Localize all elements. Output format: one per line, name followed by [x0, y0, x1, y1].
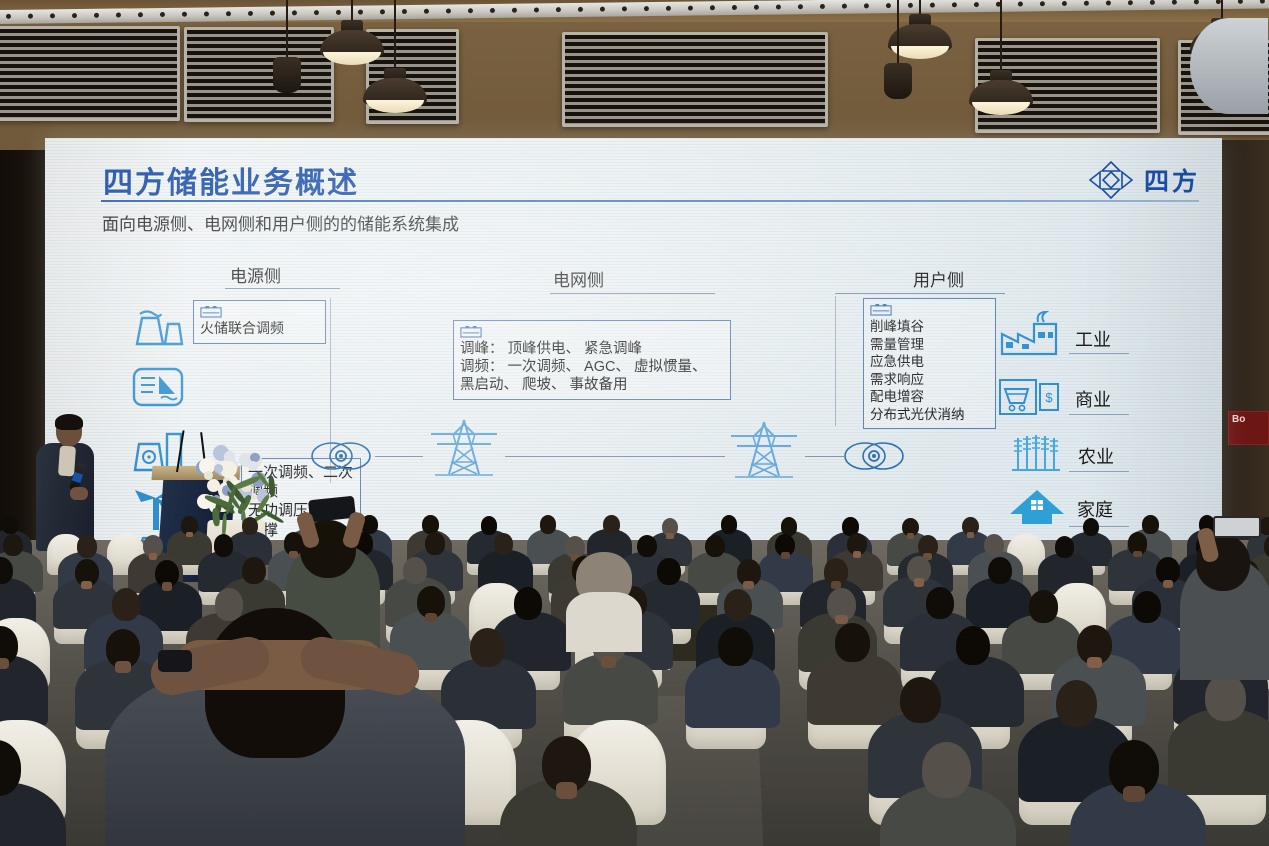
- audience-head: [705, 535, 725, 557]
- audience-head: [1055, 536, 1075, 558]
- audience-head: [1056, 680, 1097, 727]
- audience-head: [403, 557, 427, 584]
- audience-head: [1083, 518, 1100, 537]
- audience-head: [984, 534, 1004, 556]
- column-header-user: 用户侧: [913, 266, 964, 291]
- audience-head: [481, 516, 498, 535]
- slide-title: 四方储能业务概述: [103, 158, 359, 202]
- column-rule: [550, 293, 715, 294]
- audience-neck: [914, 578, 925, 586]
- info-box-user-line: 需求响应: [870, 371, 989, 389]
- info-box-grid-line1: 调峰： 顶峰供电、 紧急调峰: [460, 340, 724, 358]
- audience-head: [835, 623, 870, 662]
- audience-neck: [81, 581, 92, 589]
- info-box-user-line: 配电增容: [870, 388, 989, 406]
- user-category-label-commerce: 商业: [1075, 386, 1111, 412]
- user-category-label-agriculture: 农业: [1078, 443, 1114, 469]
- audience-head: [1142, 515, 1159, 534]
- transmission-tower-icon: [423, 418, 505, 485]
- audience-shoulders: [1168, 709, 1269, 795]
- svg-text:$: $: [1045, 390, 1053, 405]
- info-box-user-line: 需量管理: [870, 336, 989, 354]
- audience-neck: [556, 782, 578, 799]
- column-header-grid: 电网侧: [553, 266, 604, 291]
- connector-line: [805, 456, 845, 457]
- audience-neck: [907, 533, 914, 539]
- diamond-arrows-logo-icon: [1088, 160, 1134, 200]
- column-rule: [225, 288, 340, 289]
- audience-head: [900, 677, 941, 724]
- battery-icon: [200, 305, 222, 318]
- slide-subtitle: 面向电源侧、电网侧和用户侧的的储能系统集成: [102, 210, 459, 235]
- audience-head: [1205, 674, 1246, 721]
- vent-panel: [184, 27, 334, 122]
- brand-logo: 四方: [1088, 160, 1200, 200]
- audience-head: [112, 588, 141, 620]
- audience-head: [215, 588, 244, 620]
- user-category-label-industry: 工业: [1075, 326, 1111, 352]
- vent-panel: [0, 26, 180, 121]
- audience-head: [724, 589, 753, 621]
- flower-arrangement: [196, 443, 274, 533]
- audience-head: [494, 533, 514, 555]
- battery-icon: [460, 325, 482, 338]
- info-box-user-line: 应急供电: [870, 353, 989, 371]
- audience-head: [657, 558, 681, 585]
- audience-neck: [666, 533, 673, 539]
- audience-neck: [162, 582, 173, 590]
- audience-neck: [0, 658, 9, 670]
- presenter-hair: [55, 414, 83, 430]
- title-underline: [101, 200, 1199, 202]
- info-box-grid-line2: 调频： 一次调频、 AGC、 虚拟惯量、: [460, 358, 724, 376]
- category-rule: [1069, 414, 1129, 415]
- audience-neck: [853, 551, 862, 558]
- shopping-cart-money-icon: $: [998, 376, 1060, 423]
- category-rule: [1069, 353, 1129, 354]
- audience-neck: [1163, 580, 1174, 588]
- audience-neck: [1133, 551, 1142, 558]
- presenter-hand: [70, 487, 88, 500]
- brand-name: 四方: [1144, 162, 1200, 198]
- column-header-generation: 电源侧: [230, 262, 281, 287]
- divider: [835, 296, 836, 426]
- transmission-tower-icon: [723, 420, 805, 487]
- audience-neck: [186, 532, 193, 538]
- audience-neck: [967, 532, 974, 538]
- conference-scene: Bo 四方储能业务概述 面向电源侧、电网侧和用户侧的的储能系统集成 四方 电源侧…: [0, 0, 1269, 846]
- exit-sign: Bo: [1228, 411, 1269, 445]
- audience-shoulders: [441, 658, 536, 730]
- audience-head: [425, 532, 445, 554]
- info-box-user-line: 分布式光伏消纳: [870, 406, 989, 424]
- audience-neck: [149, 553, 158, 560]
- audience-head: [470, 628, 505, 667]
- audience-head: [922, 742, 972, 798]
- audience-neck: [781, 552, 790, 559]
- audience-neck: [425, 613, 438, 623]
- wheat-icon: [1010, 432, 1062, 479]
- house-icon: [1008, 486, 1066, 531]
- transformer-icon: [841, 436, 907, 481]
- audience-neck: [1087, 657, 1102, 669]
- light-hair-shoulders: [566, 592, 642, 652]
- hero-watch: [158, 650, 192, 672]
- audience-neck: [743, 581, 754, 589]
- audience-head: [956, 626, 991, 665]
- info-box-user-line: 削峰填谷: [870, 318, 989, 336]
- battery-icon: [870, 303, 892, 316]
- category-rule: [1069, 471, 1129, 472]
- audience-head: [926, 587, 955, 619]
- audience-head: [988, 557, 1012, 584]
- phone-device: [1213, 516, 1261, 538]
- audience-head: [721, 515, 738, 534]
- audience-head: [242, 517, 259, 536]
- audience-shoulders: [807, 653, 902, 725]
- info-box-grid-line3: 黑启动、 爬坡、 事故备用: [460, 376, 724, 394]
- column-rule: [835, 293, 1005, 294]
- audience-head: [77, 535, 97, 557]
- audience-neck: [1123, 786, 1145, 803]
- info-box-generation: 火储联合调频: [193, 300, 326, 344]
- connector-line: [505, 456, 725, 457]
- presenter: [30, 415, 102, 550]
- audience-head: [214, 534, 234, 556]
- audience-head: [3, 534, 23, 556]
- audience-neck: [601, 656, 616, 668]
- audience-head: [514, 587, 543, 619]
- audience-shoulders: [685, 657, 780, 729]
- ceiling-duct: [1190, 18, 1268, 114]
- info-box-grid: 调峰： 顶峰供电、 紧急调峰 调频： 一次调频、 AGC、 虚拟惯量、 黑启动、…: [453, 320, 731, 400]
- audience-head: [1133, 591, 1162, 623]
- info-box-generation-text: 火储联合调频: [200, 320, 319, 338]
- stage-right-wing: [1222, 140, 1269, 570]
- thermal-plant-icon: [131, 306, 185, 351]
- audience-neck: [115, 661, 130, 673]
- audience-head: [637, 535, 657, 557]
- exit-sign-text: Bo: [1232, 414, 1245, 425]
- audience-head: [242, 557, 266, 584]
- audience-head: [1029, 590, 1058, 622]
- hydro-dam-icon: [131, 366, 185, 413]
- factory-icon: [998, 310, 1060, 363]
- info-box-user: 削峰填谷 需量管理 应急供电 需求响应 配电增容 分布式光伏消纳: [863, 298, 996, 429]
- audience-head: [2, 516, 19, 535]
- transformer-icon: [308, 436, 374, 481]
- audience-head: [603, 515, 620, 534]
- user-category-label-household: 家庭: [1077, 496, 1113, 522]
- vent-panel: [562, 32, 828, 127]
- connector-line: [375, 456, 423, 457]
- audience-head: [718, 627, 753, 666]
- audience-head: [540, 515, 557, 534]
